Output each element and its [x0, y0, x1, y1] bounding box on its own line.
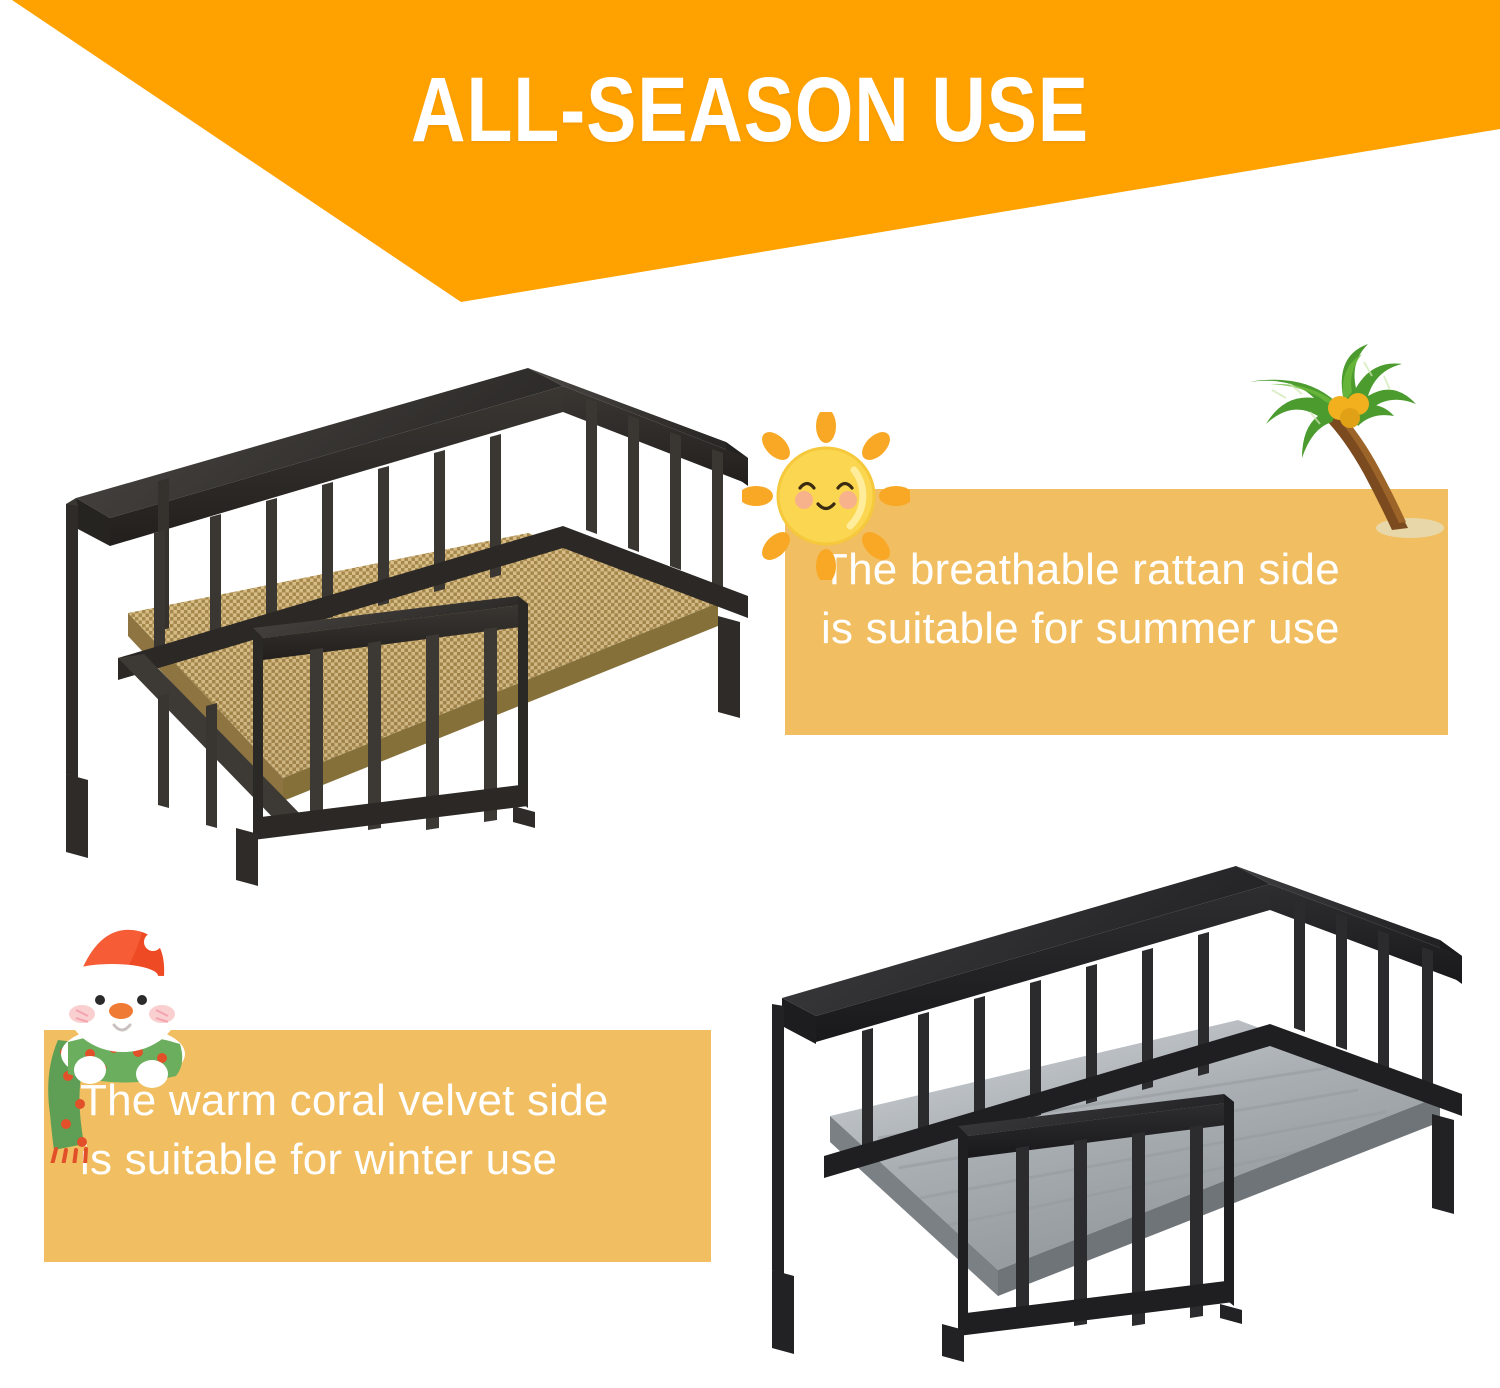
- summer-product-label: pet bed with rattan mat: [0, 0, 1, 1]
- winter-product-label: pet bed with coral velvet mat: [0, 0, 1, 1]
- bed-leg: [772, 1270, 794, 1354]
- sun-icon: [742, 412, 910, 580]
- bed-leg: [1432, 1114, 1454, 1214]
- palm-tree-icon: [1232, 342, 1464, 542]
- bed-leg: [66, 774, 88, 858]
- bed-leg: [1220, 1304, 1242, 1324]
- infographic-canvas: ALL-SEASON USE: [0, 0, 1500, 1388]
- summer-caption-text: The breathable rattan side is suitable f…: [821, 541, 1431, 658]
- bed-leg: [236, 828, 258, 886]
- snowman-icon: [28, 928, 218, 1163]
- page-title: ALL-SEASON USE: [135, 62, 1365, 159]
- product-image-velvet-bed: [768, 858, 1478, 1363]
- bed-leg: [718, 616, 740, 718]
- product-image-rattan-bed: [58, 358, 758, 888]
- bed-leg: [942, 1324, 964, 1362]
- bed-leg: [513, 806, 535, 828]
